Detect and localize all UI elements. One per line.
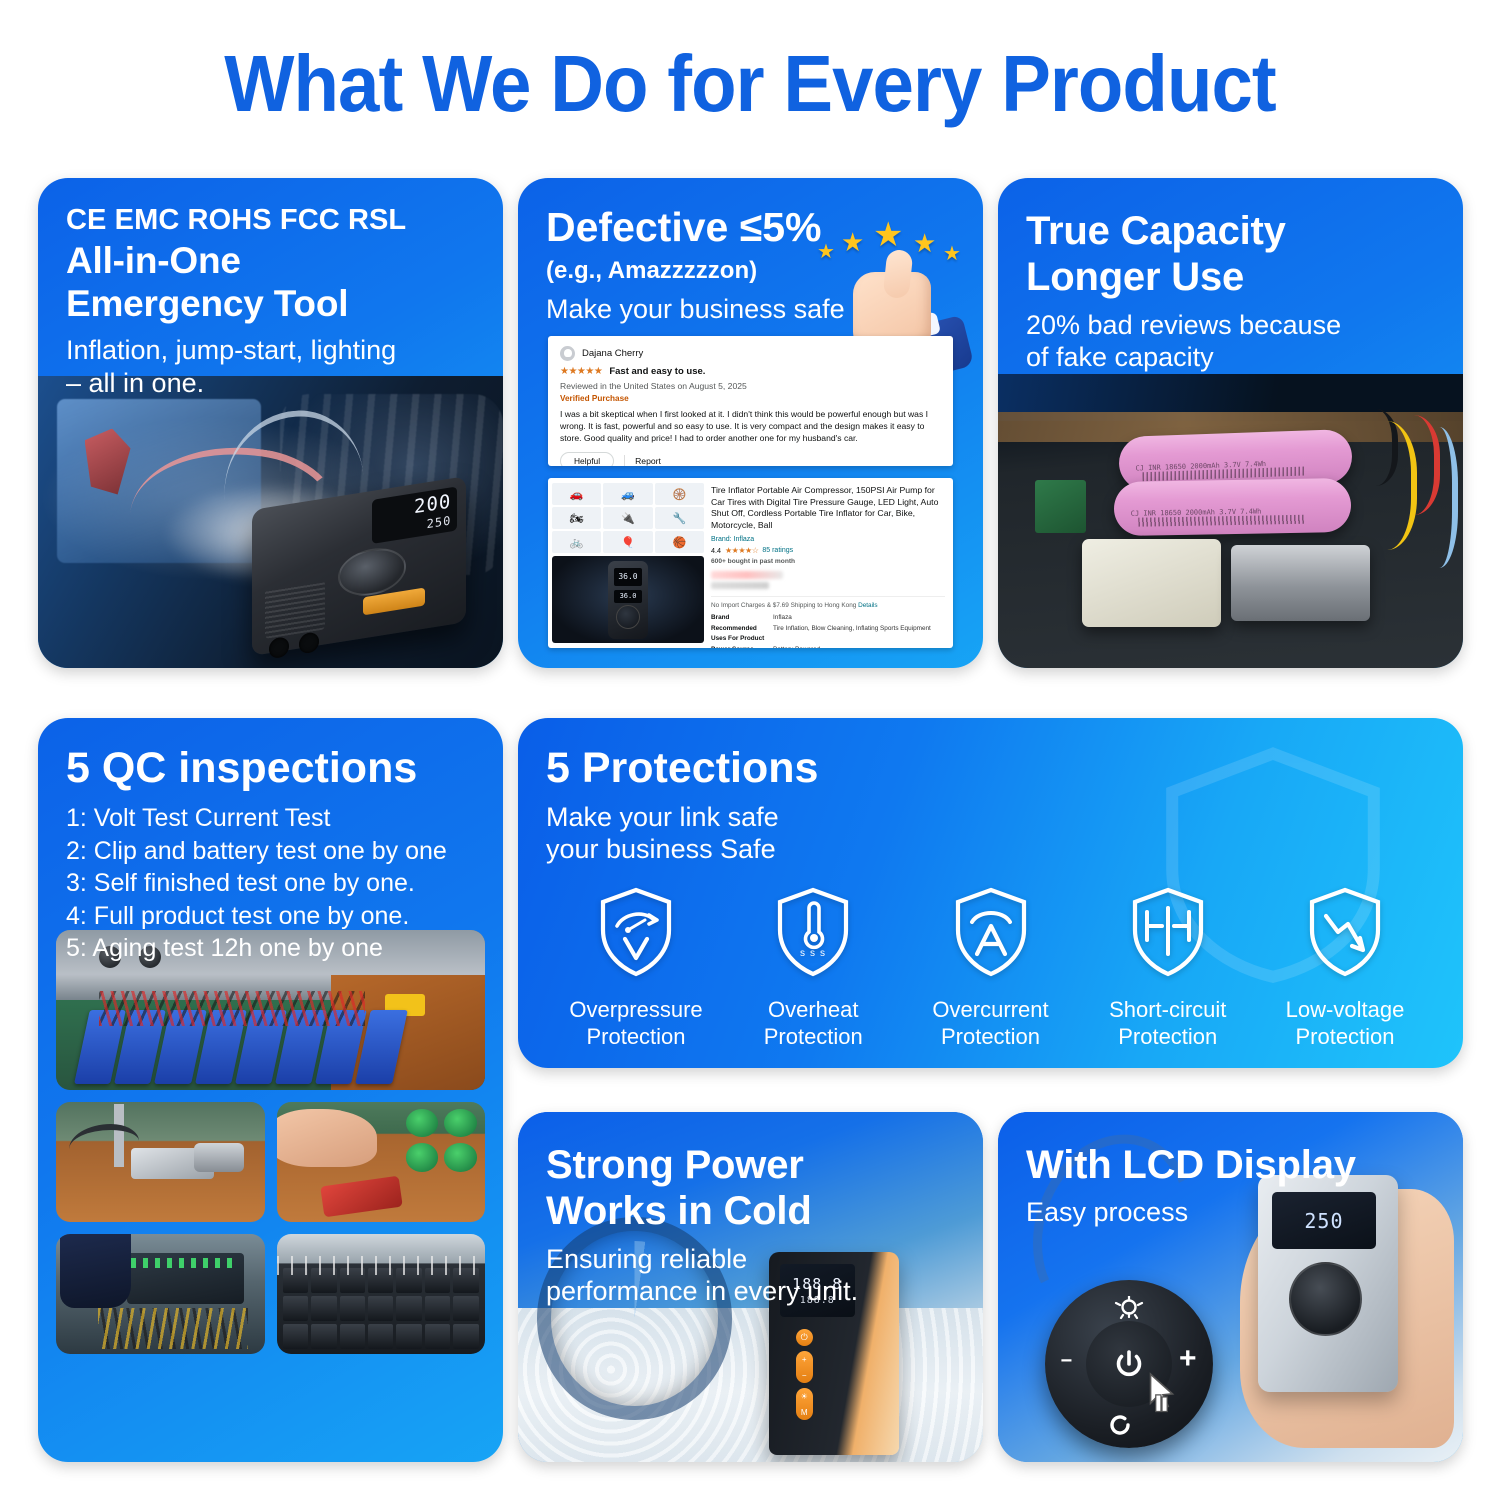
power-button[interactable]: ⏻	[796, 1329, 813, 1346]
listing-thumbnails[interactable]: 🚗🚙🛞 🏍🔌🔧 🚲🎈🏀	[552, 483, 704, 553]
light-icon	[1114, 1296, 1144, 1322]
overcurrent-shield-icon	[952, 886, 1030, 978]
table-row: Power SourceBattery Powered	[711, 645, 945, 648]
listing-rating-value: 4.4	[711, 546, 721, 555]
battery-cell: CJ INR 18650 2000mAh 3.7V 7.4Wh	[1114, 478, 1352, 536]
review-meta: Reviewed in the United States on August …	[560, 381, 941, 391]
protection-item-overpressure: Overpressure Protection	[548, 886, 724, 1051]
qc-item: 2: Clip and battery test one by one	[66, 836, 475, 867]
listing-brand-link[interactable]: Brand: Inflaza	[711, 536, 945, 543]
report-link[interactable]: Report	[635, 456, 661, 466]
protections-sub-line2: your business Safe	[546, 833, 1435, 865]
qc-photo-aging-rack	[277, 1234, 486, 1354]
refresh-icon[interactable]	[1107, 1412, 1133, 1438]
protection-label-line1: Short-circuit	[1080, 997, 1256, 1024]
qc-heading: 5 QC inspections	[66, 744, 475, 793]
svg-text:s: s	[810, 948, 815, 959]
minus-button[interactable]: −	[1061, 1350, 1073, 1373]
cursor-icon	[1141, 1372, 1183, 1424]
strong-power-sub-line2: performance in every unit.	[546, 1275, 955, 1307]
qc-item: 3: Self finished test one by one.	[66, 868, 475, 899]
verified-purchase-badge: Verified Purchase	[560, 394, 941, 403]
device-control-ring-small	[1289, 1262, 1362, 1336]
protections-heading: 5 Protections	[546, 744, 1435, 793]
avatar	[560, 346, 575, 361]
card-qc-inspections: 5 QC inspections 1: Volt Test Current Te…	[38, 718, 503, 1462]
listing-rating-count[interactable]: 85 ratings	[762, 547, 793, 554]
card-protections: 5 Protections Make your link safe your b…	[518, 718, 1463, 1068]
card-lcd-display: 250 − +	[998, 1112, 1463, 1462]
review-stars: ★★★★★	[560, 366, 602, 377]
listing-main-image: 36.0 36.0	[552, 556, 704, 643]
card-defective-rate: Defective ≤5% (e.g., Amazzzzzon) Make yo…	[518, 178, 983, 668]
table-row: Recommended Uses For ProductTire Inflati…	[711, 624, 945, 643]
listing-device-display-bottom: 36.0	[614, 590, 642, 603]
svg-text:s: s	[820, 948, 825, 959]
product-listing-card: 🚗🚙🛞 🏍🔌🔧 🚲🎈🏀 36.0 36.0 Tire Inflator Port…	[548, 478, 953, 648]
true-capacity-heading-line2: Longer Use	[1026, 254, 1435, 300]
card-strong-power: 188.8 188.8 ⏻ + − ☀ M Strong Power Works…	[518, 1112, 983, 1462]
protection-item-short-circuit: Short-circuit Protection	[1080, 886, 1256, 1051]
true-capacity-heading-line1: True Capacity	[1026, 208, 1435, 254]
protection-item-overheat: s s s Overheat Protection	[725, 886, 901, 1051]
strong-power-heading-line2: Works in Cold	[546, 1188, 955, 1234]
protection-label-line2: Protection	[725, 1024, 901, 1051]
all-in-one-heading-line2: Emergency Tool	[66, 283, 475, 326]
listing-title[interactable]: Tire Inflator Portable Air Compressor, 1…	[711, 485, 945, 532]
qc-photo-volt-test	[56, 1234, 265, 1354]
customer-review-card: Dajana Cherry ★★★★★ Fast and easy to use…	[548, 336, 953, 466]
protection-label-line2: Protection	[1257, 1024, 1433, 1051]
review-body: I was a bit skeptical when I first looke…	[560, 408, 941, 445]
overpressure-shield-icon	[597, 886, 675, 978]
control-ring-zoom[interactable]: − +	[1045, 1280, 1213, 1448]
svg-text:s: s	[800, 948, 805, 959]
listing-rating-stars: ★★★★☆	[725, 546, 758, 555]
listing-shipping-text: No Import Charges & $7.69 Shipping to Ho…	[711, 602, 856, 609]
protection-label-line2: Protection	[903, 1024, 1079, 1051]
qc-item: 1: Volt Test Current Test	[66, 803, 475, 834]
defective-sub: Make your business safe	[546, 293, 955, 325]
protections-sub-line1: Make your link safe	[546, 801, 1435, 833]
lcd-sub: Easy process	[1026, 1196, 1435, 1228]
lcd-heading: With LCD Display	[1026, 1142, 1435, 1188]
qc-photo-gallery	[56, 930, 485, 1354]
qc-item: 4: Full product test one by one.	[66, 901, 475, 932]
infographic-page: What We Do for Every Product 200 250 CE …	[0, 0, 1500, 1500]
listing-bought-count: 600+ bought in past month	[711, 558, 945, 565]
true-capacity-sub-line1: 20% bad reviews because	[1026, 309, 1435, 341]
defective-note: (e.g., Amazzzzzon)	[546, 257, 955, 285]
review-author: Dajana Cherry	[582, 348, 643, 359]
device-display-top: 200	[414, 492, 451, 517]
protection-label-line1: Overpressure	[548, 997, 724, 1024]
qc-photo-clip-test	[277, 1102, 486, 1222]
card-true-capacity-photo: CJ INR 18650 2000mAh 3.7V 7.4Wh CJ INR 1…	[998, 374, 1463, 668]
protection-item-overcurrent: Overcurrent Protection	[903, 886, 1079, 1051]
protection-label-line2: Protection	[1080, 1024, 1256, 1051]
certifications-label: CE EMC ROHS FCC RSL	[66, 204, 475, 236]
device-display-bottom: 250	[427, 514, 452, 530]
protection-label-line1: Overheat	[725, 997, 901, 1024]
listing-price-blurred	[711, 571, 783, 579]
overheat-shield-icon: s s s	[774, 886, 852, 978]
protection-item-low-voltage: Low-voltage Protection	[1257, 886, 1433, 1051]
all-in-one-sub-line2: – all in one.	[66, 367, 475, 399]
low-voltage-shield-icon	[1306, 886, 1384, 978]
protection-label-line1: Low-voltage	[1257, 997, 1433, 1024]
listing-shipping-details-link[interactable]: Details	[858, 602, 878, 609]
strong-power-heading-line1: Strong Power	[546, 1142, 955, 1188]
listing-price-secondary-blurred	[711, 582, 769, 589]
short-circuit-shield-icon	[1129, 886, 1207, 978]
plus-button[interactable]: +	[1179, 1342, 1197, 1376]
protections-list: Overpressure Protection s s s Overheat P…	[548, 886, 1433, 1051]
light-mode-buttons[interactable]: ☀ M	[796, 1388, 813, 1420]
listing-device-display-top: 36.0	[614, 568, 642, 586]
page-title: What We Do for Every Product	[53, 0, 1448, 124]
card-true-capacity: CJ INR 18650 2000mAh 3.7V 7.4Wh CJ INR 1…	[998, 178, 1463, 668]
plus-minus-buttons[interactable]: + −	[796, 1351, 813, 1383]
table-row: BrandInflaza	[711, 613, 945, 622]
protection-label-line2: Protection	[548, 1024, 724, 1051]
defective-heading: Defective ≤5%	[546, 204, 955, 251]
review-title: Fast and easy to use.	[609, 366, 705, 377]
listing-spec-table: BrandInflaza Recommended Uses For Produc…	[711, 613, 945, 648]
card-all-in-one: 200 250 CE EMC ROHS FCC RSL All-in-One E…	[38, 178, 503, 668]
protection-label-line1: Overcurrent	[903, 997, 1079, 1024]
qc-item: 5: Aging test 12h one by one	[66, 933, 475, 964]
strong-power-sub-line1: Ensuring reliable	[546, 1243, 955, 1275]
all-in-one-heading-line1: All-in-One	[66, 240, 475, 283]
all-in-one-sub-line1: Inflation, jump-start, lighting	[66, 334, 475, 366]
helpful-button[interactable]: Helpful	[560, 452, 614, 466]
qc-photo-machine	[56, 1102, 265, 1222]
card-all-in-one-photo: 200 250	[38, 376, 503, 668]
true-capacity-sub-line2: of fake capacity	[1026, 341, 1435, 373]
